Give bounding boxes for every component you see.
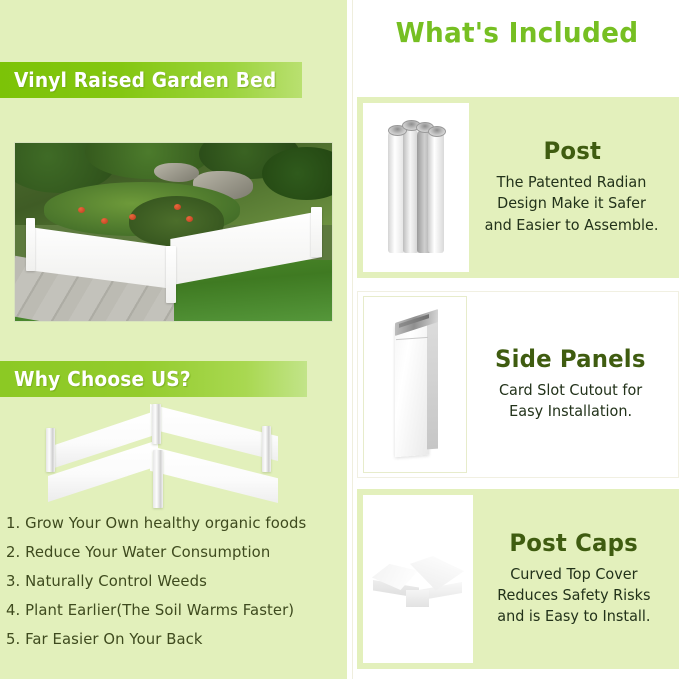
card-description-line: Card Slot Cutout for xyxy=(499,380,642,401)
page-title: What's Included xyxy=(365,16,670,49)
card-post-caps: Post Caps Curved Top Cover Reduces Safet… xyxy=(357,489,679,669)
card-description: The Patented Radian Design Make it Safer… xyxy=(485,172,659,236)
list-item: 1. Grow Your Own healthy organic foods xyxy=(6,509,338,538)
column-divider xyxy=(352,0,353,679)
post-image-box xyxy=(363,103,469,272)
photo-rock xyxy=(154,163,198,183)
benefits-list: 1. Grow Your Own healthy organic foods 2… xyxy=(6,509,347,654)
photo-bed-corner-post xyxy=(26,218,36,271)
card-title: Side Panels xyxy=(495,345,646,373)
card-description-line: and Easier to Assemble. xyxy=(485,215,659,236)
post-lobe xyxy=(428,129,444,253)
post-lobe-top xyxy=(428,126,446,137)
garden-bed-frame-render xyxy=(22,400,314,512)
side-panel-product-image xyxy=(387,310,443,460)
right-column: What's Included Post The Patented R xyxy=(355,0,679,679)
card-post: Post The Patented Radian Design Make it … xyxy=(357,97,679,278)
card-description-line: Easy Installation. xyxy=(499,401,642,422)
card-title: Post xyxy=(543,137,601,165)
photo-tomato xyxy=(101,218,108,224)
card-description-line: and is Easy to Install. xyxy=(497,606,650,627)
post-cap-product-image xyxy=(370,542,466,616)
list-item: 3. Naturally Control Weeds xyxy=(6,567,338,596)
frame-corner-post xyxy=(262,426,271,472)
card-description: Card Slot Cutout for Easy Installation. xyxy=(499,380,642,423)
list-item: 5. Far Easier On Your Back xyxy=(6,625,338,654)
post-cap-image-box xyxy=(363,495,473,663)
photo-bed-corner-post xyxy=(311,207,321,257)
card-side-panels: Side Panels Card Slot Cutout for Easy In… xyxy=(357,291,679,478)
frame-corner-post xyxy=(152,404,161,444)
side-panels-card-body: Side Panels Card Slot Cutout for Easy In… xyxy=(467,292,678,477)
side-panel-image-box xyxy=(363,296,467,473)
card-description-line: Reduces Safety Risks xyxy=(497,585,650,606)
card-description: Curved Top Cover Reduces Safety Risks an… xyxy=(497,564,650,628)
post-caps-card-body: Post Caps Curved Top Cover Reduces Safet… xyxy=(473,489,679,669)
title-banner-text: Vinyl Raised Garden Bed xyxy=(14,68,276,92)
panel-face xyxy=(395,322,429,456)
column-gap xyxy=(347,0,355,679)
infographic-page: Vinyl Raised Garden Bed xyxy=(0,0,679,679)
frame-corner-post xyxy=(153,450,163,508)
list-item: 4. Plant Earlier(The Soil Warms Faster) xyxy=(6,596,338,625)
frame-corner-post xyxy=(46,428,55,472)
post-product-image xyxy=(386,119,446,257)
card-title: Post Caps xyxy=(510,529,639,557)
list-item: 2. Reduce Your Water Consumption xyxy=(6,538,338,567)
card-description-line: Design Make it Safer xyxy=(485,193,659,214)
title-banner: Vinyl Raised Garden Bed xyxy=(0,62,302,98)
why-choose-us-text: Why Choose US? xyxy=(14,367,191,391)
cap-neck xyxy=(406,590,429,607)
why-choose-us-banner: Why Choose US? xyxy=(0,361,307,397)
post-card-body: Post The Patented Radian Design Make it … xyxy=(469,97,679,278)
photo-bed-corner-post xyxy=(166,246,177,303)
card-description-line: The Patented Radian xyxy=(485,172,659,193)
photo-tomato xyxy=(174,204,181,210)
panel-side xyxy=(427,318,438,449)
hero-product-photo xyxy=(14,142,333,322)
left-column: Vinyl Raised Garden Bed xyxy=(0,0,347,679)
card-description-line: Curved Top Cover xyxy=(497,564,650,585)
